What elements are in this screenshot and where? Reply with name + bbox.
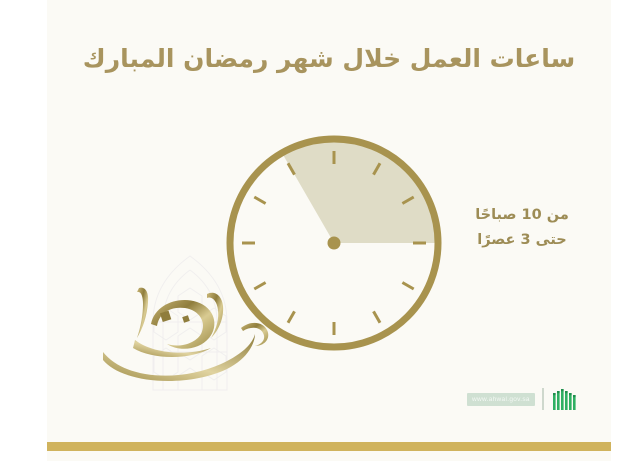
- poster-canvas: ساعات العمل خلال شهر رمضان المبارك: [47, 0, 611, 461]
- ramadan-calligraphy: [95, 268, 285, 386]
- working-hours-end: حتى 3 عصرًا: [452, 228, 592, 253]
- badge-divider: [542, 388, 544, 410]
- footer-badge[interactable]: www.ahwal.gov.sa: [467, 385, 577, 413]
- ahwal-bars-logo: [551, 386, 577, 412]
- calligraphy-dot: [182, 315, 190, 323]
- website-url[interactable]: www.ahwal.gov.sa: [467, 393, 535, 406]
- bottom-accent-bar: [47, 442, 611, 451]
- working-hours-text: من 10 صباحًا حتى 3 عصرًا: [452, 203, 592, 254]
- working-hours-start: من 10 صباحًا: [452, 203, 592, 228]
- clock-center-hub: [328, 237, 341, 250]
- page-title: ساعات العمل خلال شهر رمضان المبارك: [47, 43, 611, 74]
